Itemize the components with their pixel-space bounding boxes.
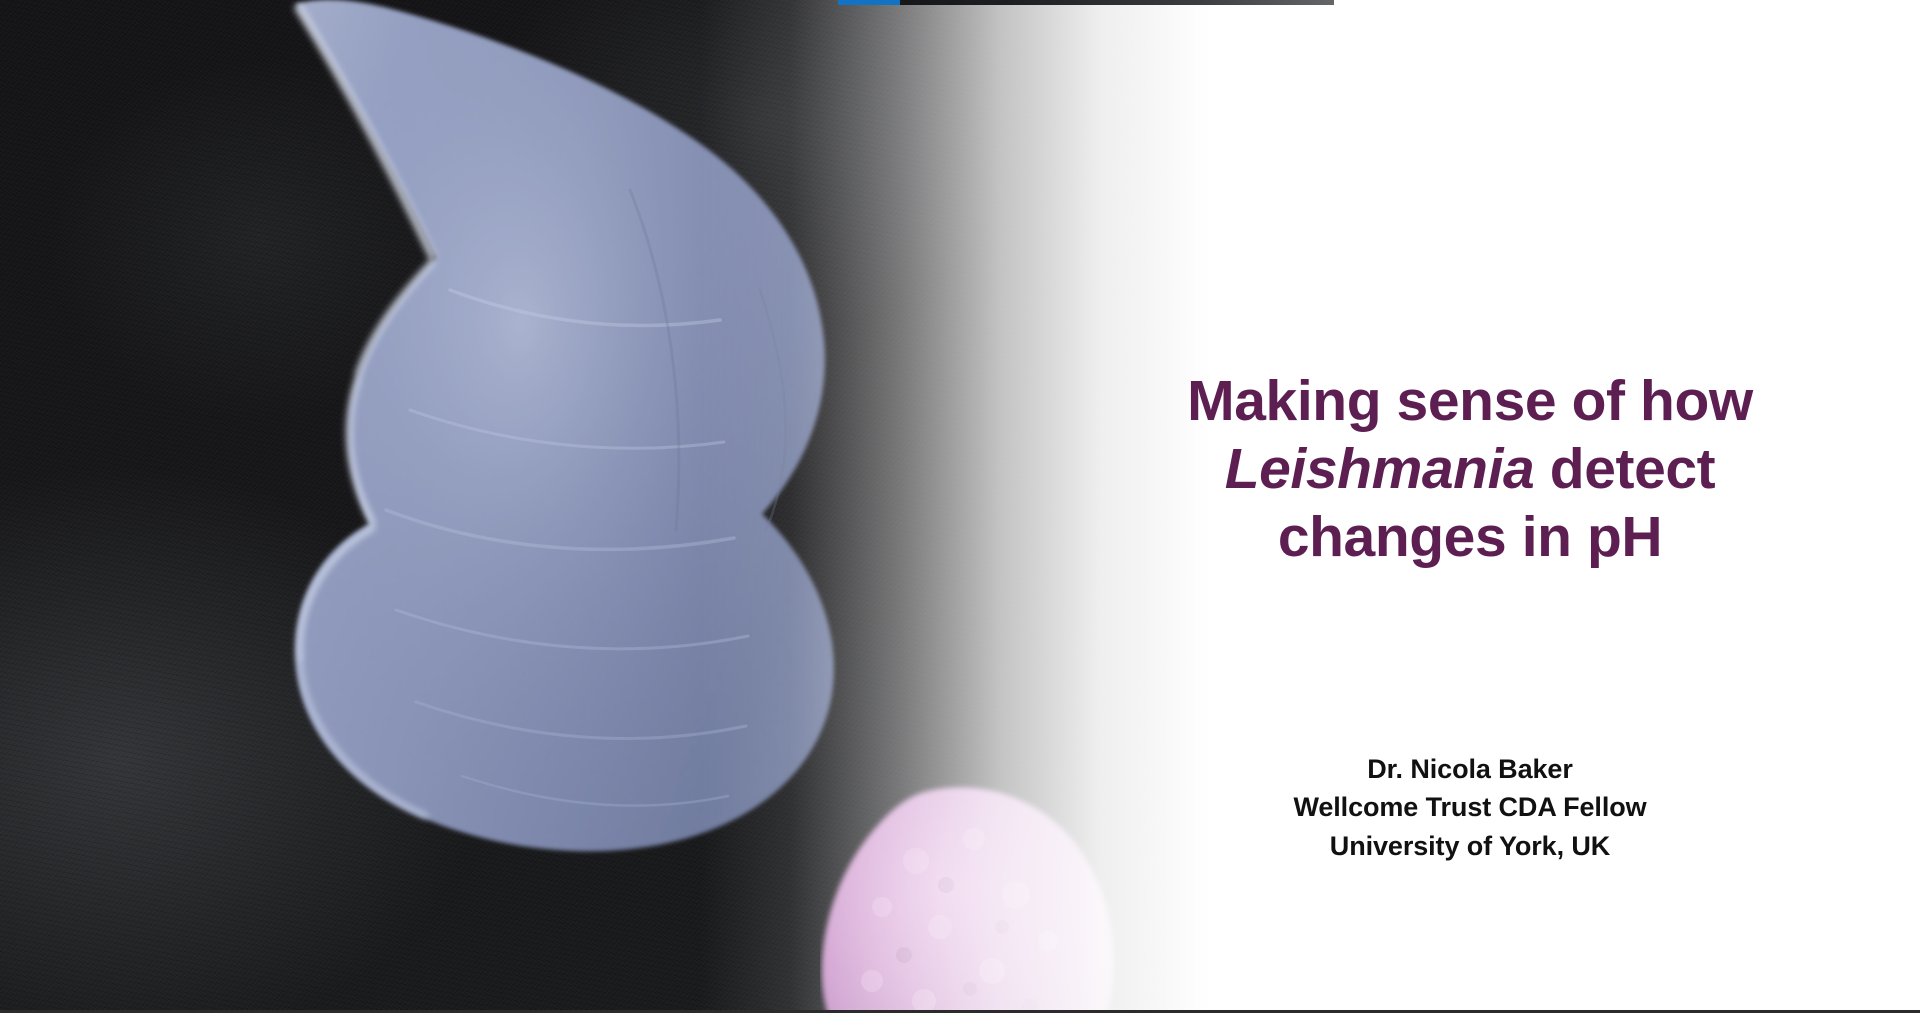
presentation-slide: Making sense of how Leishmania detect ch… [0,0,1920,1013]
leishmania-promastigote-cell-icon [200,0,1200,890]
title-species-name: Leishmania [1225,437,1535,501]
title-line-3: changes in pH [1278,505,1662,569]
slide-title: Making sense of how Leishmania detect ch… [1100,368,1840,571]
title-line-1: Making sense of how [1187,369,1753,433]
video-progress-bar[interactable] [838,0,1334,5]
slide-text-panel: Making sense of how Leishmania detect ch… [1100,0,1920,1013]
video-progress-fill[interactable] [838,0,900,5]
author-name: Dr. Nicola Baker [1100,750,1840,788]
author-block: Dr. Nicola Baker Wellcome Trust CDA Fell… [1100,750,1840,865]
title-line-2-rest: detect [1534,437,1715,501]
author-affiliation: University of York, UK [1100,827,1840,865]
author-role: Wellcome Trust CDA Fellow [1100,788,1840,826]
